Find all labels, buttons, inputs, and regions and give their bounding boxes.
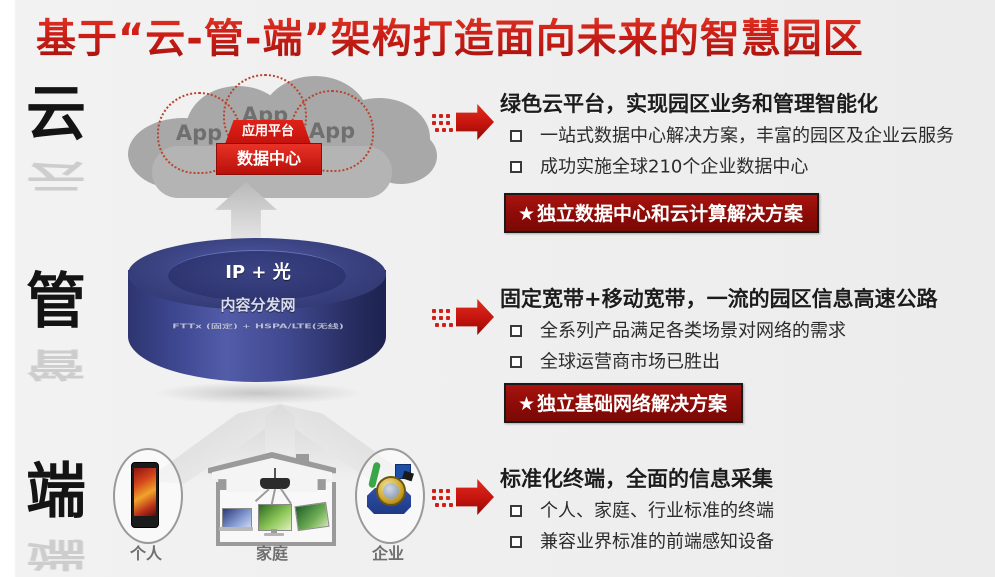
- layer-label-cloud-reflection: 云: [26, 160, 116, 193]
- arrow-dots: [432, 108, 456, 136]
- device-label-enterprise: 企业: [345, 540, 431, 564]
- access-point-icon: [260, 478, 290, 489]
- device-label-person: 个人: [103, 540, 189, 564]
- layer-label-pipe-reflection: 管: [26, 348, 116, 381]
- bullet-square-icon: [510, 356, 522, 368]
- bullet-item: 全系列产品满足各类场景对网络的需求: [510, 315, 995, 346]
- layer-label-terminal-text: 端: [26, 457, 86, 527]
- section-cloud-badge: ★独立数据中心和云计算解决方案: [504, 193, 819, 233]
- bullet-text: 兼容业界标准的前端感知设备: [540, 532, 774, 553]
- bullet-text: 成功实施全球210个企业数据中心: [540, 157, 808, 178]
- bullet-square-icon: [510, 536, 522, 548]
- section-cloud-bullets: 一站式数据中心解决方案，丰富的园区及企业云服务 成功实施全球210个企业数据中心: [510, 120, 995, 182]
- bullet-square-icon: [510, 130, 522, 142]
- bullet-square-icon: [510, 505, 522, 517]
- meter-black-part: [402, 471, 414, 482]
- arrow-head: [456, 299, 494, 335]
- bullet-item: 一站式数据中心解决方案，丰富的园区及企业云服务: [510, 120, 995, 151]
- bullet-text: 全系列产品满足各类场景对网络的需求: [540, 321, 846, 342]
- arrow-dots: [432, 303, 456, 331]
- bullet-square-icon: [510, 161, 522, 173]
- star-icon: ★: [518, 393, 535, 415]
- network-cylinder-graphic: IP + 光 内容分发网 FTTx (固定) + HSPA/LTE(无线): [122, 232, 394, 408]
- datacenter-box: 应用平台 数据中心: [216, 120, 320, 178]
- cylinder-label-access: FTTx (固定) + HSPA/LTE(无线): [122, 322, 394, 331]
- enterprise-meter-icon: [365, 462, 413, 524]
- slide-canvas: 基于“云-管-端”架构打造面向未来的智慧园区 基于“云-管-端”架构打造面向未来…: [0, 0, 995, 577]
- smartphone-icon: [131, 462, 159, 528]
- meter-dial: [376, 476, 406, 506]
- star-icon: ★: [518, 203, 535, 225]
- cylinder-label-cdn: 内容分发网: [122, 294, 394, 315]
- layer-label-cloud-text: 云: [26, 79, 86, 149]
- red-arrow-icon: [432, 102, 494, 142]
- arrow-head: [456, 479, 494, 515]
- house-network-icon: [208, 452, 336, 544]
- section-terminal-bullets: 个人、家庭、行业标准的终端 兼容业界标准的前端感知设备: [510, 495, 995, 557]
- cloud-graphic: App App App 应用平台 数据中心: [110, 72, 440, 222]
- section-pipe-headline: 固定宽带+移动宽带，一流的园区信息高速公路: [500, 283, 995, 313]
- application-platform-label: 应用平台: [225, 120, 311, 144]
- monitor-icon: [258, 504, 292, 531]
- section-cloud-headline: 绿色云平台，实现园区业务和管理智能化: [500, 88, 995, 118]
- red-arrow-icon: [432, 297, 494, 337]
- monitor-base: [264, 533, 284, 536]
- section-pipe-bullets: 全系列产品满足各类场景对网络的需求 全球运营商市场已胜出: [510, 315, 995, 377]
- meter-dial-inner: [383, 483, 399, 499]
- device-label-home: 家庭: [229, 540, 315, 564]
- bullet-item: 成功实施全球210个企业数据中心: [510, 151, 995, 182]
- badge-text: 独立基础网络解决方案: [537, 393, 727, 415]
- badge-text: 独立数据中心和云计算解决方案: [537, 203, 803, 225]
- datacenter-label: 数据中心: [216, 143, 322, 175]
- arrow-head: [456, 104, 494, 140]
- bullet-text: 个人、家庭、行业标准的终端: [540, 501, 774, 522]
- laptop-base: [219, 527, 253, 531]
- red-arrow-icon: [432, 477, 494, 517]
- smartphone-screen: [134, 468, 156, 516]
- layer-label-pipe: 管 管: [26, 272, 116, 394]
- arrow-dots: [432, 483, 456, 511]
- bullet-item: 个人、家庭、行业标准的终端: [510, 495, 995, 526]
- layer-label-pipe-text: 管: [26, 267, 86, 337]
- cylinder-label-ip-optical: IP + 光: [122, 258, 394, 284]
- layer-label-cloud: 云 云: [26, 84, 116, 206]
- bullet-square-icon: [510, 325, 522, 337]
- bullet-text: 一站式数据中心解决方案，丰富的园区及企业云服务: [540, 126, 954, 147]
- tablet-icon: [294, 502, 329, 531]
- section-terminal-headline: 标准化终端，全面的信息采集: [500, 463, 995, 493]
- bullet-item: 全球运营商市场已胜出: [510, 346, 995, 377]
- page-title: 基于“云-管-端”架构打造面向未来的智慧园区: [36, 10, 936, 68]
- bullet-text: 全球运营商市场已胜出: [540, 352, 720, 373]
- bullet-item: 兼容业界标准的前端感知设备: [510, 526, 995, 557]
- section-pipe-badge: ★独立基础网络解决方案: [504, 383, 743, 423]
